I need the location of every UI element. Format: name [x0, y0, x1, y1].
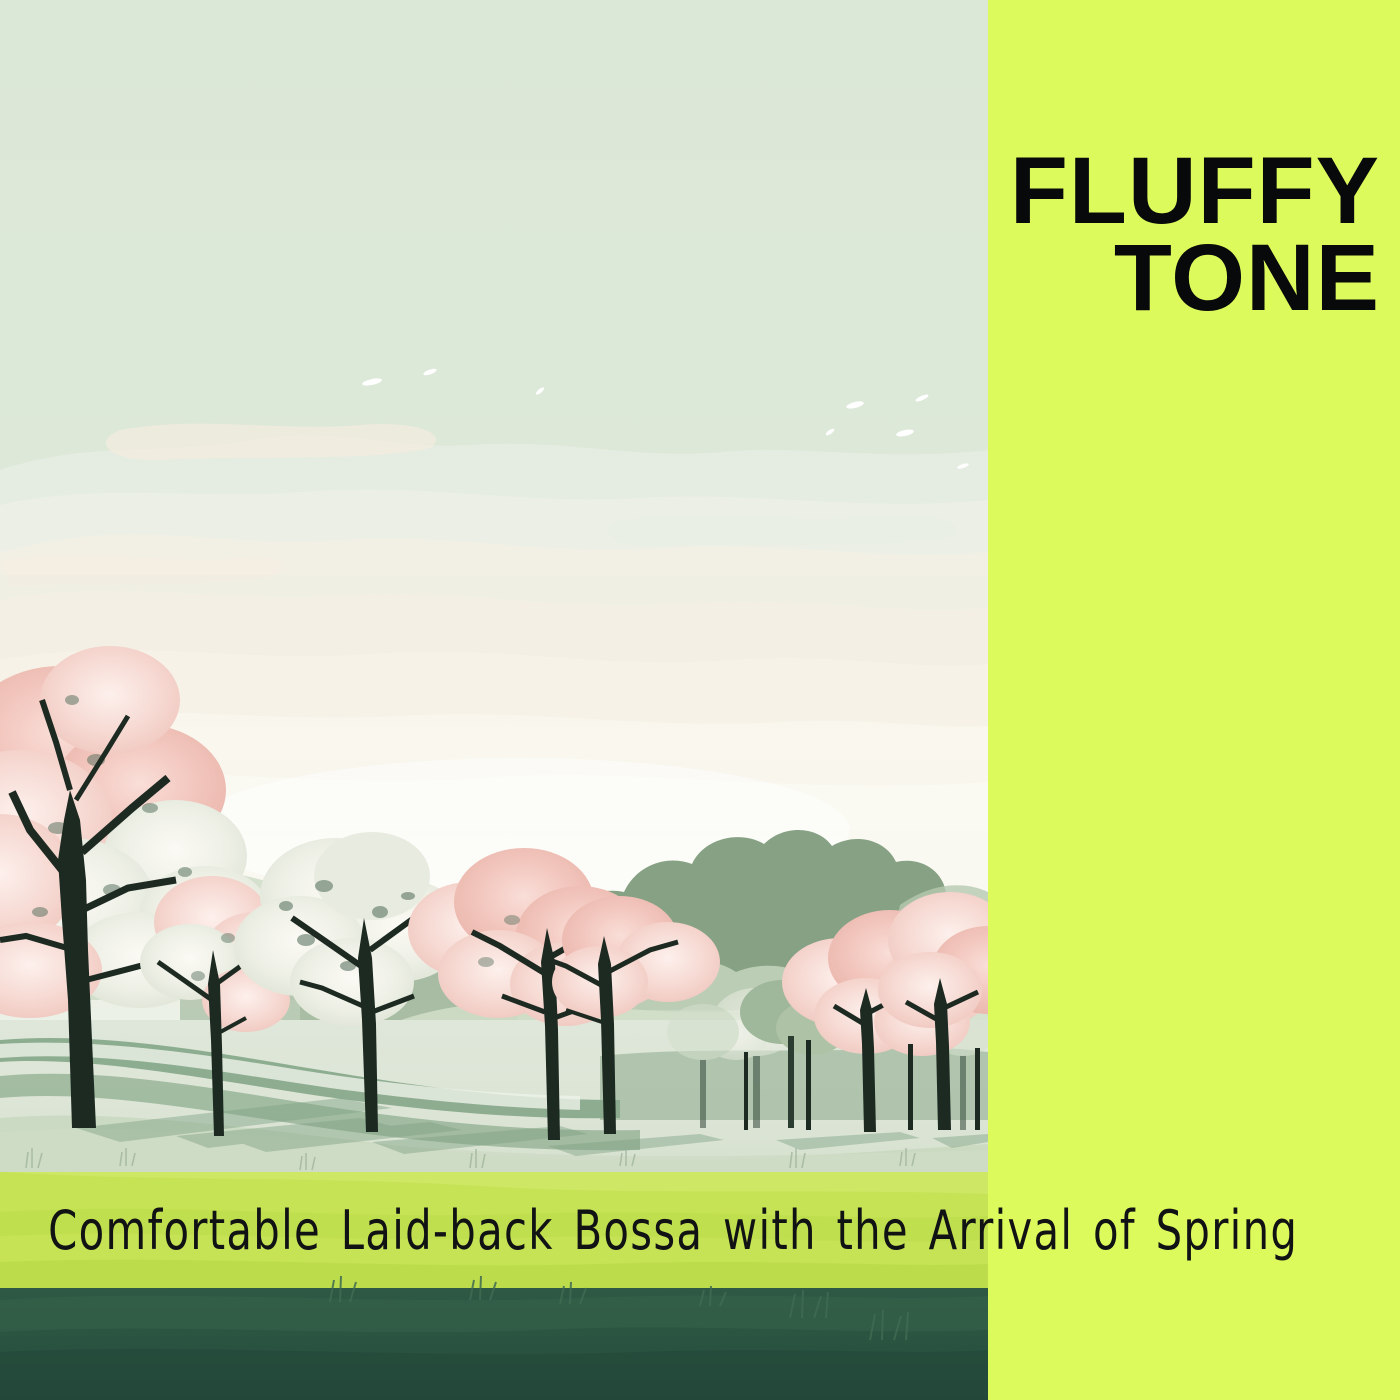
album-subtitle: Comfortable Laid-back Bossa with the Arr… — [0, 1199, 1298, 1262]
album-title-line-1: FLUFFY — [988, 148, 1380, 235]
album-cover: FLUFFY TONE Comfortable Laid-back Bossa … — [0, 0, 1400, 1400]
album-subtitle-row: Comfortable Laid-back Bossa with the Arr… — [0, 1172, 1400, 1288]
foreground-grass — [0, 1276, 988, 1400]
album-title-line-2: TONE — [988, 235, 1380, 322]
album-title: FLUFFY TONE — [988, 148, 1380, 323]
